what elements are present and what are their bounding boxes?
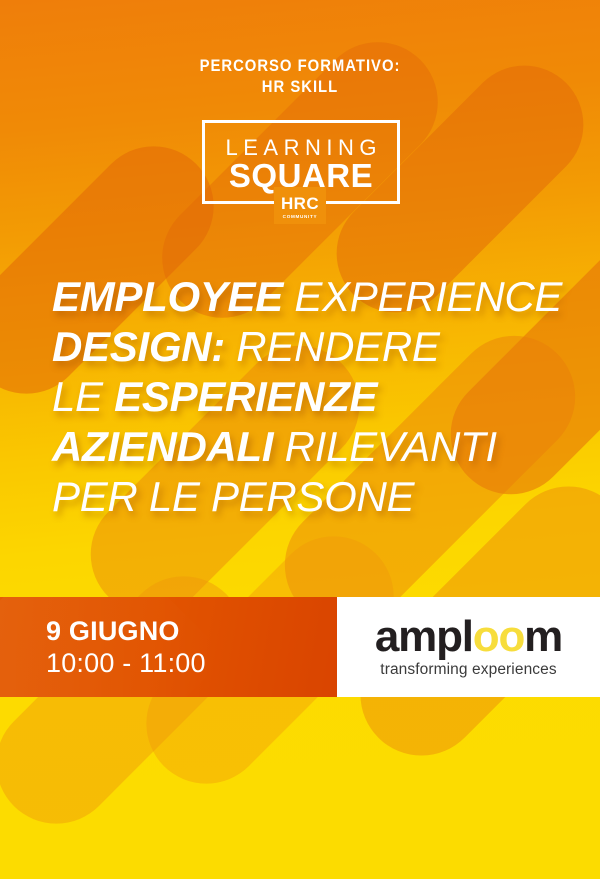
amploom-part-1: ampl: [375, 612, 473, 661]
eyebrow-line-2: HR SKILL: [30, 77, 570, 98]
sponsor-logo-panel: amploom transforming experiences: [337, 597, 600, 697]
headline-word-rilevanti: RILEVANTI: [285, 423, 497, 470]
hrc-badge-sublabel: COMMUNITY: [283, 215, 318, 220]
headline-word-aziendali: AZIENDALI: [52, 423, 273, 470]
hrc-community-badge: HRC COMMUNITY: [274, 187, 326, 224]
amploom-oo-accent: oo: [473, 612, 524, 661]
event-date-text: 9 GIUGNO 10:00 - 11:00: [46, 615, 206, 681]
eyebrow-line-1: PERCORSO FORMATIVO:: [30, 56, 570, 77]
amploom-tagline: transforming experiences: [380, 661, 556, 679]
poster-canvas: PERCORSO FORMATIVO: HR SKILL LEARNING SQ…: [0, 0, 600, 879]
bottom-band: 9 GIUGNO 10:00 - 11:00 amploom transform…: [0, 597, 600, 697]
headline-line-1: EMPLOYEE EXPERIENCE: [52, 272, 572, 322]
event-date-panel: 9 GIUGNO 10:00 - 11:00: [0, 597, 337, 697]
headline-word-rendere: RENDERE: [236, 323, 439, 370]
hrc-badge-label: HRC: [281, 195, 319, 212]
headline-word-employee: EMPLOYEE: [52, 273, 283, 320]
headline-word-experience: EXPERIENCE: [294, 273, 562, 320]
eyebrow-heading: PERCORSO FORMATIVO: HR SKILL: [30, 56, 570, 98]
headline-word-esperienze: ESPERIENZE: [114, 373, 377, 420]
headline-word-design: DESIGN:: [52, 323, 225, 370]
amploom-part-2: m: [524, 612, 562, 661]
event-date-time: 10:00 - 11:00: [46, 647, 206, 681]
event-date-day: 9 GIUGNO: [46, 615, 206, 647]
headline-block: EMPLOYEE EXPERIENCE DESIGN: RENDERE LE E…: [52, 272, 572, 522]
headline-line-3: LE ESPERIENZE: [52, 372, 572, 422]
amploom-wordmark: amploom: [375, 615, 562, 659]
headline-phrase-per-le-persone: PER LE PERSONE: [52, 473, 414, 520]
headline-line-4: AZIENDALI RILEVANTI: [52, 422, 572, 472]
headline-line-2: DESIGN: RENDERE: [52, 322, 572, 372]
headline-line-5: PER LE PERSONE: [52, 472, 572, 522]
headline-word-le: LE: [52, 373, 103, 420]
